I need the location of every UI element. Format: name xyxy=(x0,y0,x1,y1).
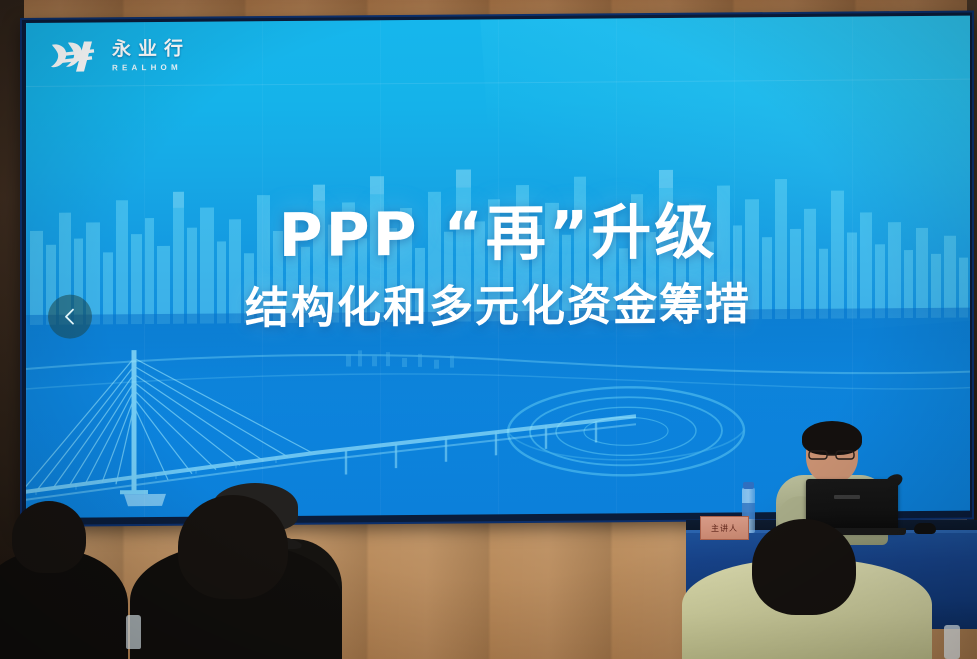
yh-monogram-logo-icon xyxy=(48,38,100,74)
speaker-name-card-text: 主讲人 xyxy=(711,523,738,534)
audience-head xyxy=(12,501,86,573)
audience-water-bottle-right xyxy=(944,625,960,659)
presentation-photo-scene: 永业行 REALHOM PPP “再”升级 结构化和多元化资金筹措 xyxy=(0,0,977,659)
panel-seam-horizontal xyxy=(26,79,970,87)
audience-water-bottle xyxy=(126,615,141,649)
water-bottle-cap xyxy=(743,482,754,489)
previous-slide-button[interactable] xyxy=(48,294,92,338)
cable-stayed-bridge xyxy=(26,338,636,518)
audience-head xyxy=(752,519,856,615)
brand-logo: 永业行 REALHOM xyxy=(48,38,190,75)
brand-name-chinese: 永业行 xyxy=(112,40,190,61)
laptop-brand-mark xyxy=(834,495,860,499)
glasses-icon xyxy=(808,450,856,460)
chevron-left-icon xyxy=(61,308,79,326)
speaker-name-card: 主讲人 xyxy=(700,516,749,540)
city-skyline-silhouette xyxy=(26,128,970,325)
brand-name-english: REALHOM xyxy=(112,63,190,73)
computer-mouse[interactable] xyxy=(914,523,936,534)
audience-head xyxy=(178,495,288,599)
brand-logo-text: 永业行 REALHOM xyxy=(112,40,190,73)
